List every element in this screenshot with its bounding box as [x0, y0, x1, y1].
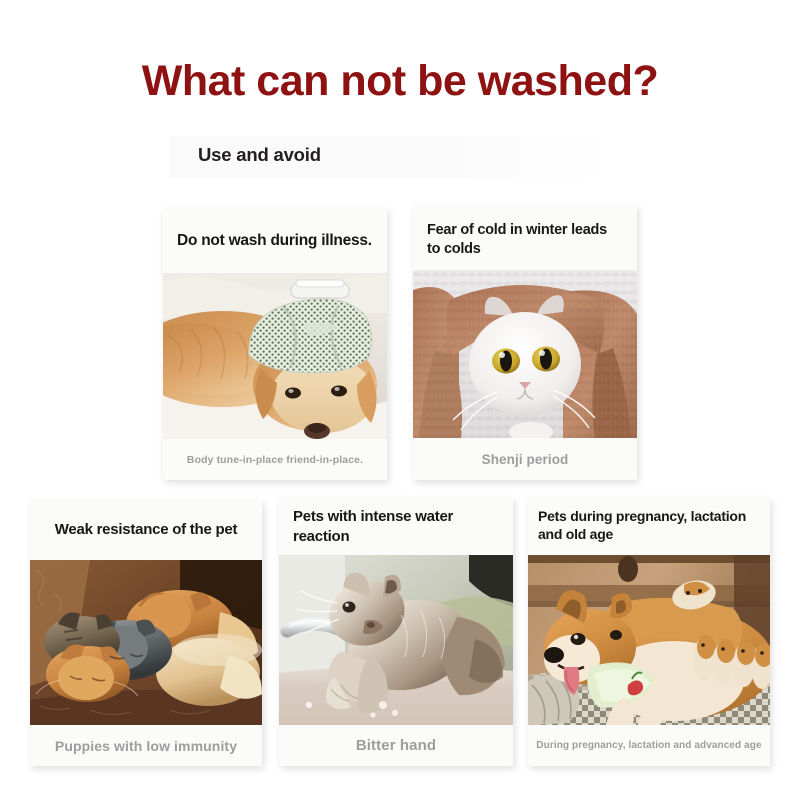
card-caption: Bitter hand — [279, 725, 513, 766]
nursing-shiba-inu-mother-dog-photo — [528, 555, 770, 725]
card-caption: Body tune-in-place friend-in-place. — [163, 439, 387, 480]
card-caption: During pregnancy, lactation and advanced… — [528, 725, 770, 766]
card-title: Fear of cold in winter leads to colds — [413, 205, 637, 270]
card-title: Pets with intense water reaction — [279, 498, 513, 555]
white-cat-wrapped-in-knit-blanket-photo — [413, 270, 637, 438]
card-caption: Shenji period — [413, 438, 637, 480]
card-title: Weak resistance of the pet — [30, 500, 262, 560]
card-weak-resistance-of-the-pet[interactable]: Weak resistance of the pet — [30, 500, 262, 766]
card-title: Pets during pregnancy, lactation and old… — [528, 498, 770, 555]
card-pets-with-intense-water-reaction[interactable]: Pets with intense water reaction — [279, 498, 513, 766]
card-do-not-wash-during-illness[interactable]: Do not wash during illness. — [163, 208, 387, 480]
sick-golden-retriever-with-ice-pack-photo — [163, 273, 387, 439]
sleeping-kittens-on-couch-photo — [30, 560, 262, 725]
card-fear-of-cold-in-winter[interactable]: Fear of cold in winter leads to colds — [413, 205, 637, 480]
card-caption: Puppies with low immunity — [30, 725, 262, 766]
wet-cat-clinging-to-faucet-photo — [279, 555, 513, 725]
card-pets-during-pregnancy-lactation-old-age[interactable]: Pets during pregnancy, lactation and old… — [528, 498, 770, 766]
card-title: Do not wash during illness. — [163, 208, 387, 273]
section-subtitle: Use and avoid — [198, 144, 321, 166]
page-title: What can not be washed? — [0, 58, 800, 105]
